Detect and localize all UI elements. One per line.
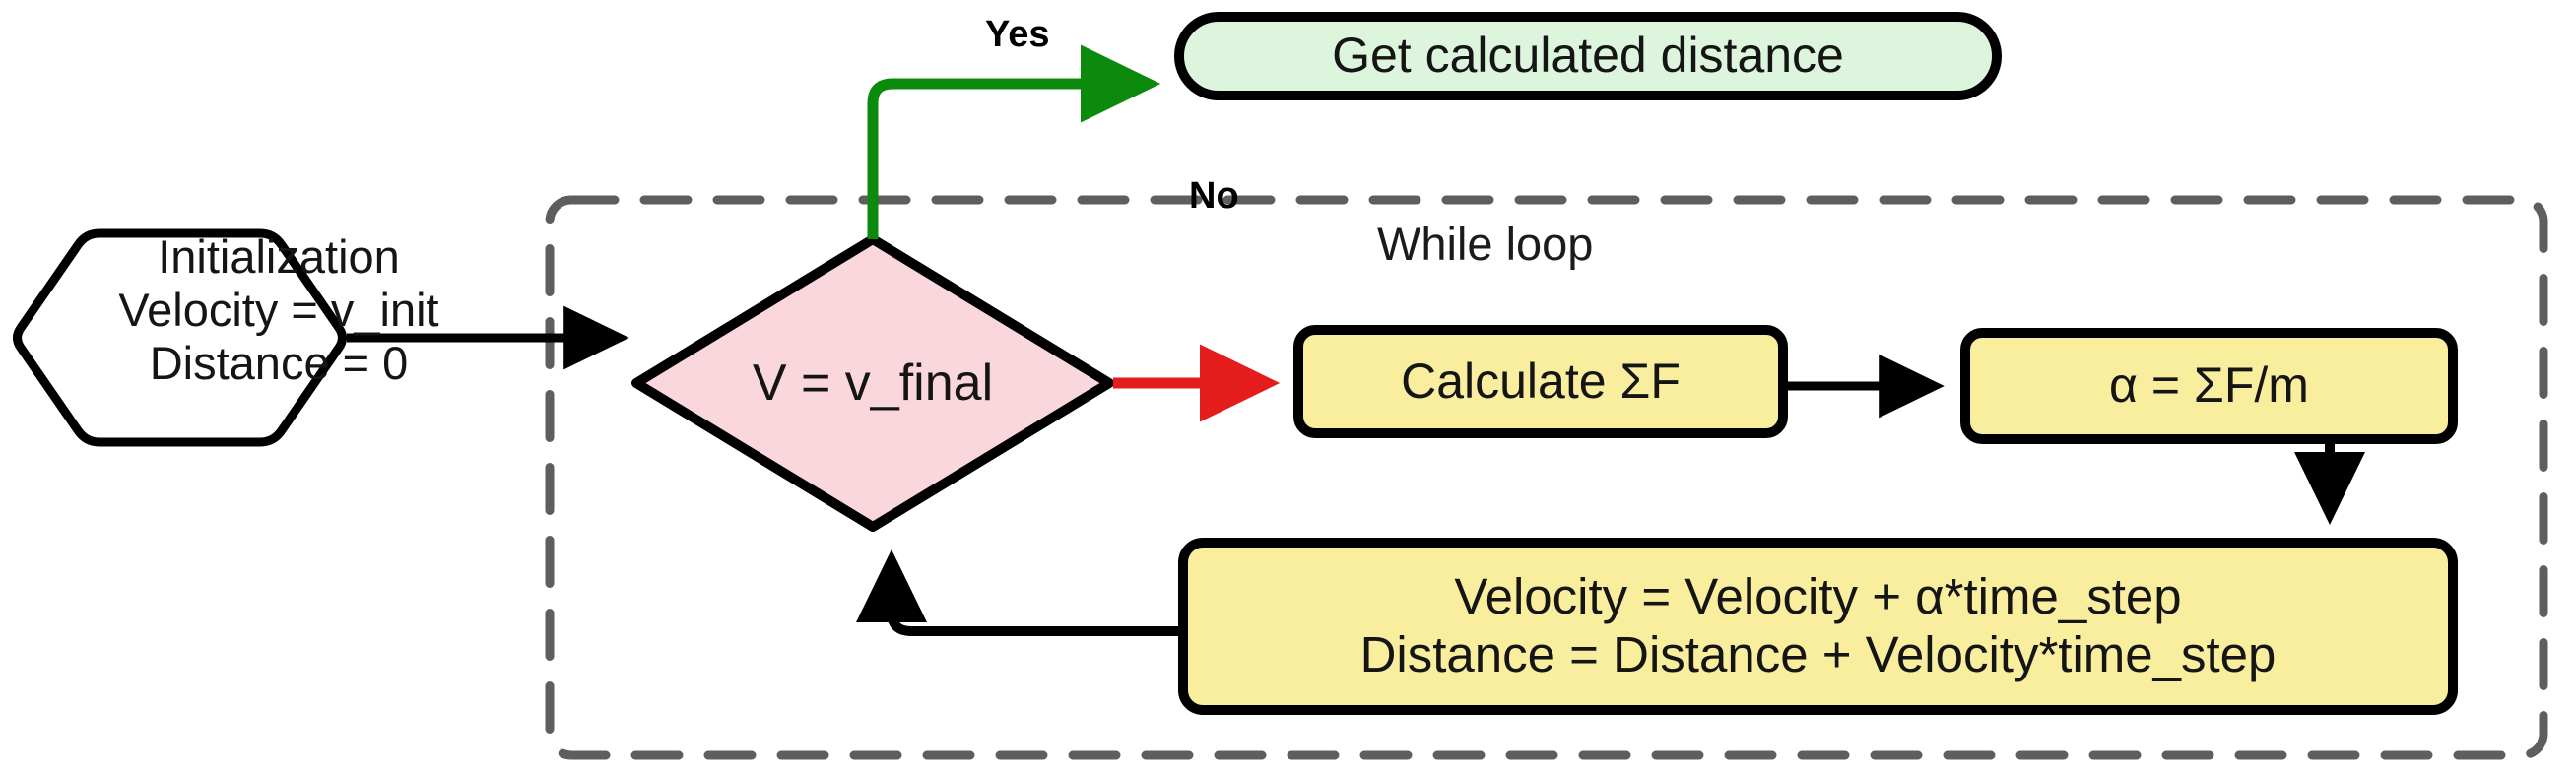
edge-decision-yes: [873, 84, 1148, 239]
update-node-shape: [1183, 543, 2453, 710]
terminal-node-shape: [1179, 17, 1997, 96]
edge-update-to-decision: [892, 561, 1181, 631]
acceleration-node-shape: [1965, 333, 2453, 439]
flowchart-canvas: While loop Initialization Velocity = v_i…: [0, 0, 2576, 775]
flowchart-graphics: [0, 0, 2576, 775]
decision-node-shape: [636, 239, 1109, 527]
calculate-force-node-shape: [1298, 330, 1783, 433]
initialization-node-shape: [18, 233, 343, 442]
